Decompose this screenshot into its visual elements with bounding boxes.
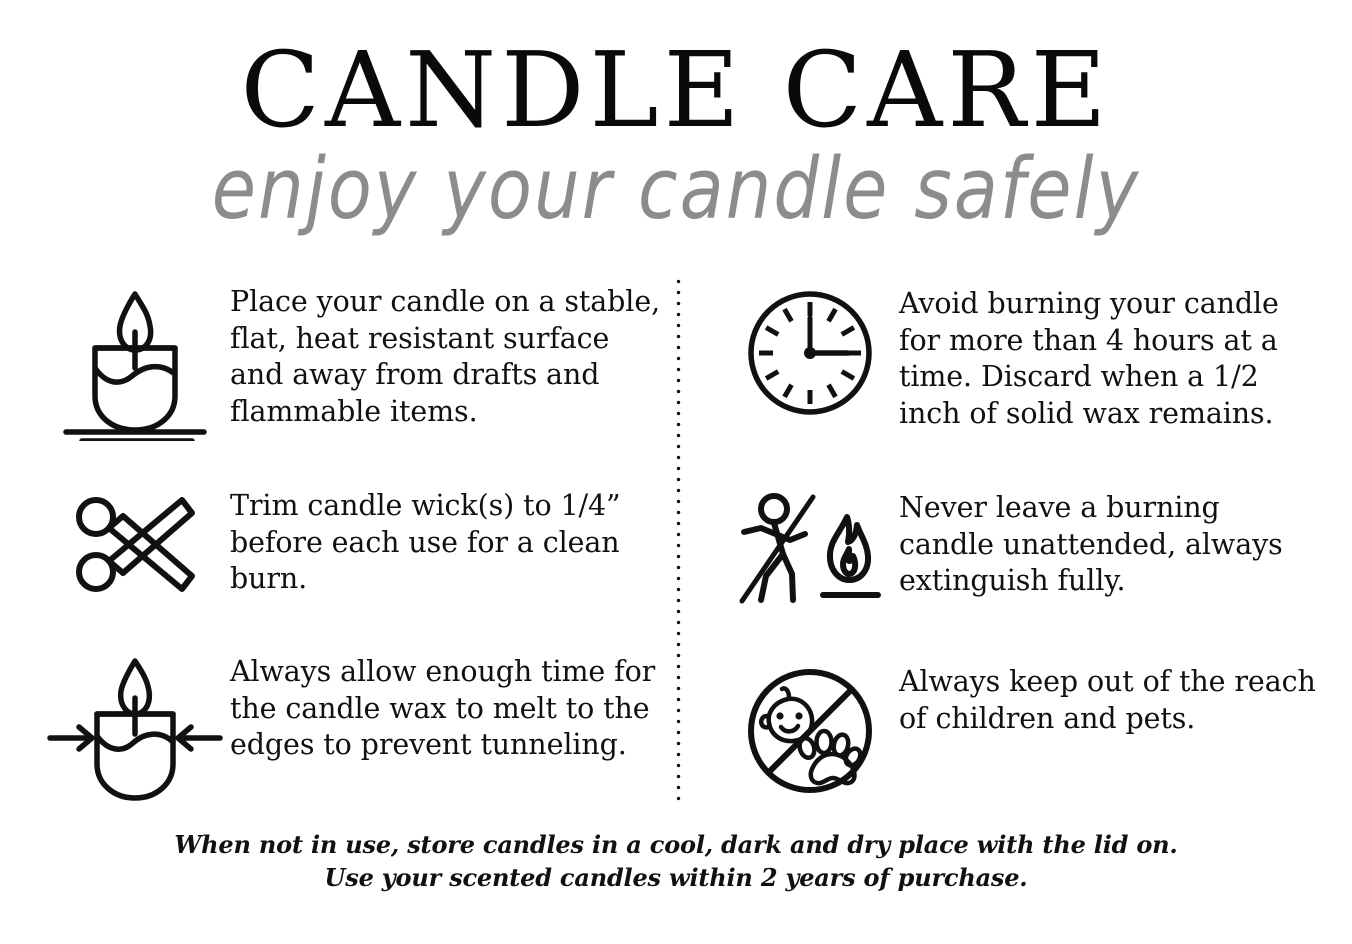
tip-text: Avoid burning your candle for more than … bbox=[899, 284, 1316, 432]
tip-item: Always allow enough time for the candle … bbox=[40, 648, 661, 812]
footer-note: When not in use, store candles in a cool… bbox=[0, 828, 1352, 894]
tip-text: Trim candle wick(s) to 1/4” before each … bbox=[230, 486, 661, 598]
candle-care-card: CANDLE CARE enjoy your candle safely bbox=[0, 0, 1352, 944]
header: CANDLE CARE enjoy your candle safely bbox=[0, 0, 1352, 218]
scissors-icon bbox=[40, 486, 230, 598]
tips-grid: Place your candle on a stable, flat, hea… bbox=[0, 272, 1352, 812]
footer-line-2: Use your scented candles within 2 years … bbox=[0, 861, 1352, 894]
person-leaving-fire-icon bbox=[721, 488, 899, 604]
tip-text: Place your candle on a stable, flat, hea… bbox=[230, 282, 661, 430]
tip-item: Avoid burning your candle for more than … bbox=[721, 272, 1316, 480]
tip-text: Always allow enough time for the candle … bbox=[230, 652, 661, 764]
candle-full-melt-pool-icon bbox=[40, 652, 230, 806]
tip-item: Place your candle on a stable, flat, hea… bbox=[40, 272, 661, 480]
page-title: CANDLE CARE bbox=[0, 38, 1352, 142]
page-subtitle: enjoy your candle safely bbox=[0, 146, 1352, 231]
tip-item: Never leave a burning candle unattended,… bbox=[721, 480, 1316, 648]
right-column: Avoid burning your candle for more than … bbox=[679, 272, 1352, 812]
clock-icon bbox=[721, 284, 899, 418]
tip-text: Never leave a burning candle unattended,… bbox=[899, 488, 1316, 600]
left-column: Place your candle on a stable, flat, hea… bbox=[0, 272, 679, 812]
tip-item: Always keep out of the reach of children… bbox=[721, 648, 1316, 812]
footer-line-1: When not in use, store candles in a cool… bbox=[0, 828, 1352, 861]
tip-text: Always keep out of the reach of children… bbox=[899, 662, 1316, 737]
no-children-pets-icon bbox=[721, 662, 899, 796]
tip-item: Trim candle wick(s) to 1/4” before each … bbox=[40, 480, 661, 648]
candle-on-surface-icon bbox=[40, 282, 230, 441]
